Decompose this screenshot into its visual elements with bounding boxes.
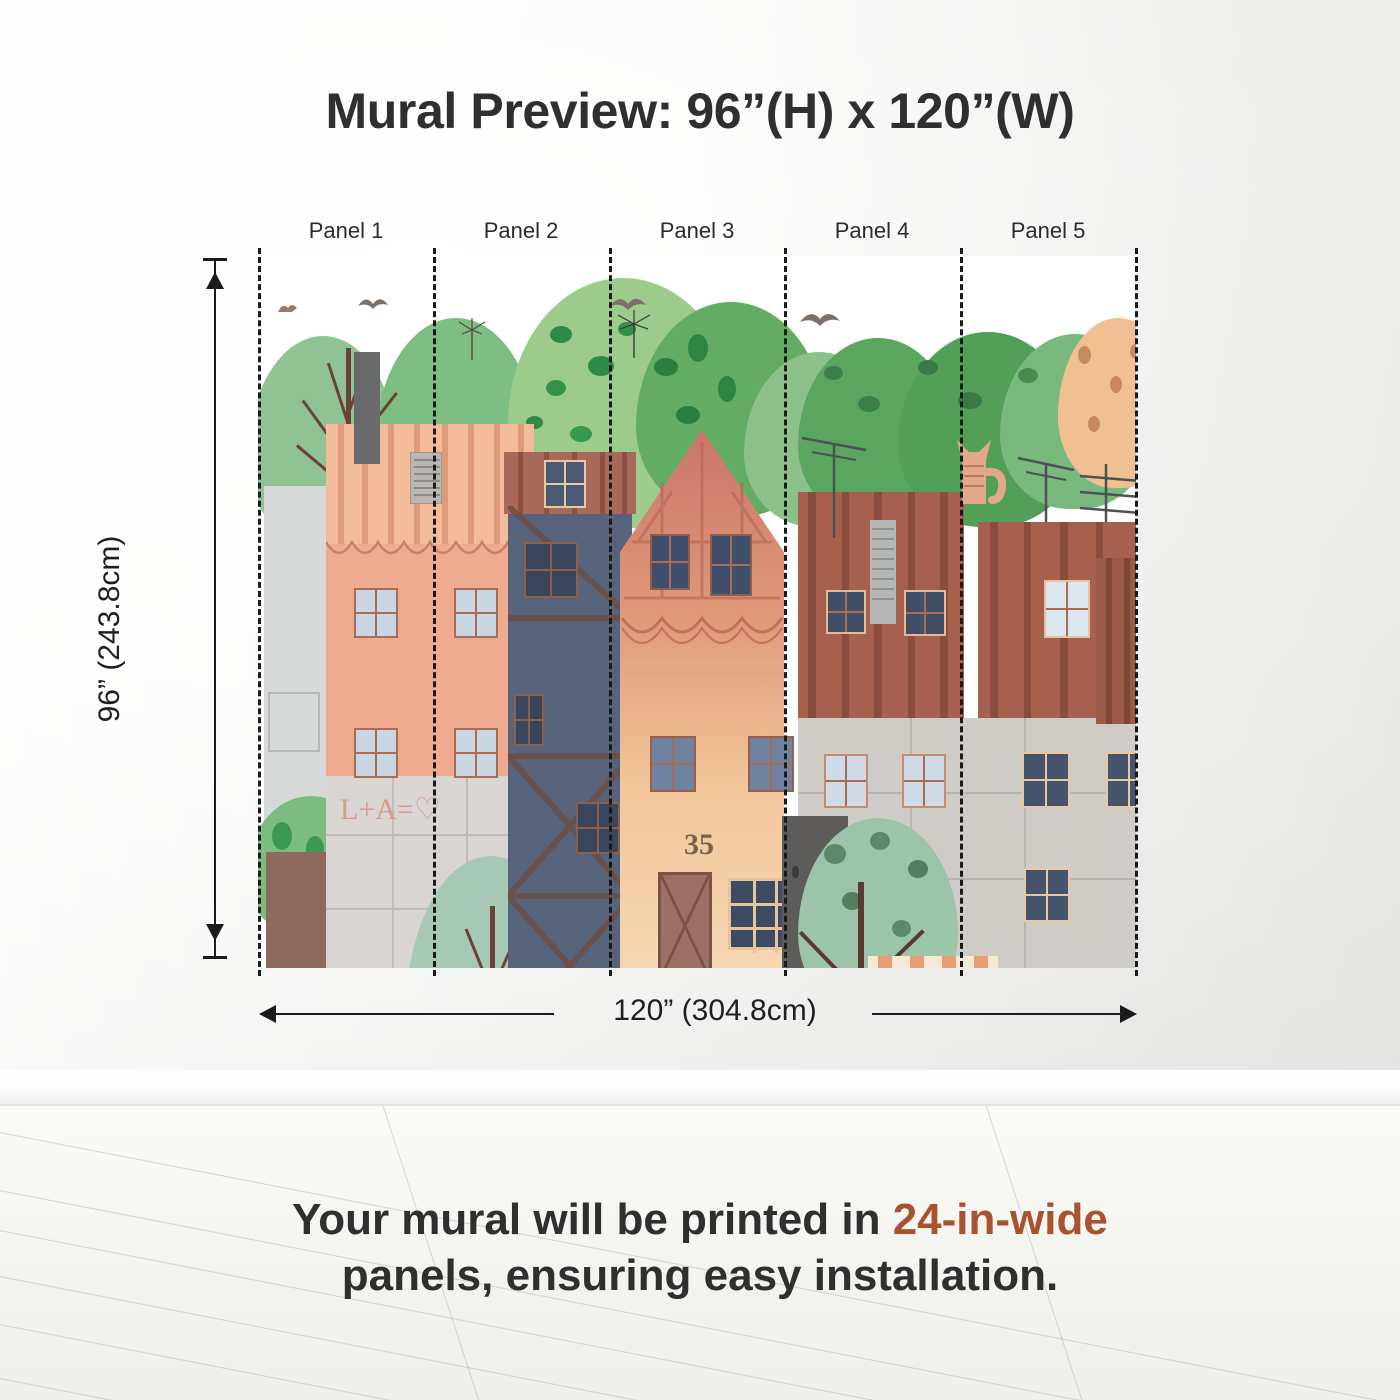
tree-branch <box>858 882 864 968</box>
front-door <box>658 872 712 968</box>
width-arrow-left <box>259 1005 276 1023</box>
window <box>354 728 398 778</box>
window <box>514 694 544 746</box>
height-arrow-up <box>206 272 224 289</box>
window <box>904 590 946 636</box>
mural-artwork: L+A=♡ <box>258 256 1136 968</box>
height-dimension-label: 96” (243.8cm) <box>93 464 127 794</box>
roof-vent <box>410 452 442 504</box>
panel-label-3: Panel 3 <box>609 218 785 244</box>
window <box>1044 580 1090 638</box>
chimney <box>354 352 380 464</box>
window <box>650 534 690 590</box>
window <box>1024 868 1070 922</box>
panel-divider-0 <box>258 248 261 976</box>
caption-line1-before: Your mural will be printed in <box>292 1195 893 1244</box>
floor-plank <box>0 1368 1400 1400</box>
foliage-dot <box>570 426 592 442</box>
wall-panel <box>268 692 320 752</box>
shop-awning <box>868 956 998 968</box>
window <box>524 542 578 598</box>
roof-vent <box>870 520 896 624</box>
foliage-dot <box>1088 416 1100 432</box>
panel-divider-2 <box>609 248 612 976</box>
panel-divider-1 <box>433 248 436 976</box>
panel-divider-4 <box>960 248 963 976</box>
foliage-dot <box>918 360 938 375</box>
window <box>902 754 946 808</box>
baseboard <box>0 1070 1400 1106</box>
panel-label-1: Panel 1 <box>258 218 434 244</box>
foliage-dot <box>1110 376 1122 393</box>
bird-icon <box>274 296 300 318</box>
window <box>826 590 866 634</box>
house-number: 35 <box>684 828 744 862</box>
foliage-dot <box>870 832 890 850</box>
caption: Your mural will be printed in 24-in-wide… <box>120 1192 1280 1305</box>
panel-divider-3 <box>784 248 787 976</box>
panel-divider-5 <box>1135 248 1138 976</box>
height-cap-top <box>203 258 227 261</box>
window <box>454 728 498 778</box>
panel-label-4: Panel 4 <box>784 218 960 244</box>
caption-accent: 24-in-wide <box>893 1195 1108 1244</box>
window <box>710 534 752 596</box>
height-dimension-line <box>214 258 216 958</box>
width-dimension-line-left <box>276 1013 554 1015</box>
window <box>824 754 868 808</box>
height-cap-bottom <box>203 956 227 959</box>
panel-label-2: Panel 2 <box>433 218 609 244</box>
mural-preview-scene: Mural Preview: 96”(H) x 120”(W) <box>0 0 1400 1400</box>
foliage-dot <box>718 376 736 402</box>
foliage-dot <box>546 380 566 396</box>
window <box>1022 752 1070 808</box>
window <box>454 588 498 638</box>
window <box>544 460 586 508</box>
width-arrow-right <box>1120 1005 1137 1023</box>
shrub-branch <box>490 906 495 968</box>
width-dimension-label: 120” (304.8cm) <box>560 994 870 1028</box>
window <box>1106 752 1136 808</box>
cat-icon <box>950 432 1006 504</box>
building-rust <box>1096 558 1136 724</box>
tv-antenna-icon <box>798 428 868 538</box>
foliage-dot <box>688 334 708 362</box>
foliage-dot <box>272 822 292 850</box>
foliage-dot <box>892 920 911 937</box>
window <box>650 736 696 792</box>
wall-graffiti: L+A=♡ <box>340 792 480 826</box>
width-dimension-line-right <box>872 1013 1122 1015</box>
panel-label-5: Panel 5 <box>960 218 1136 244</box>
caption-line2: panels, ensuring easy installation. <box>342 1251 1058 1300</box>
window <box>748 736 794 792</box>
bird-icon <box>798 304 842 336</box>
scallop-trim <box>326 538 534 572</box>
page-title: Mural Preview: 96”(H) x 120”(W) <box>0 82 1400 140</box>
foliage-dot <box>824 366 843 380</box>
foliage-dot <box>1018 368 1038 383</box>
height-arrow-down <box>206 924 224 941</box>
foliage-dot <box>824 844 846 864</box>
bird-icon <box>356 292 390 318</box>
foliage-dot <box>908 860 928 878</box>
seed-sprig-icon <box>454 316 490 360</box>
foliage-dot <box>1078 346 1091 364</box>
foliage-dot <box>550 326 572 343</box>
foliage-dot <box>654 358 678 376</box>
foliage-dot <box>858 396 880 412</box>
seed-sprig-icon <box>614 308 654 358</box>
window <box>354 588 398 638</box>
